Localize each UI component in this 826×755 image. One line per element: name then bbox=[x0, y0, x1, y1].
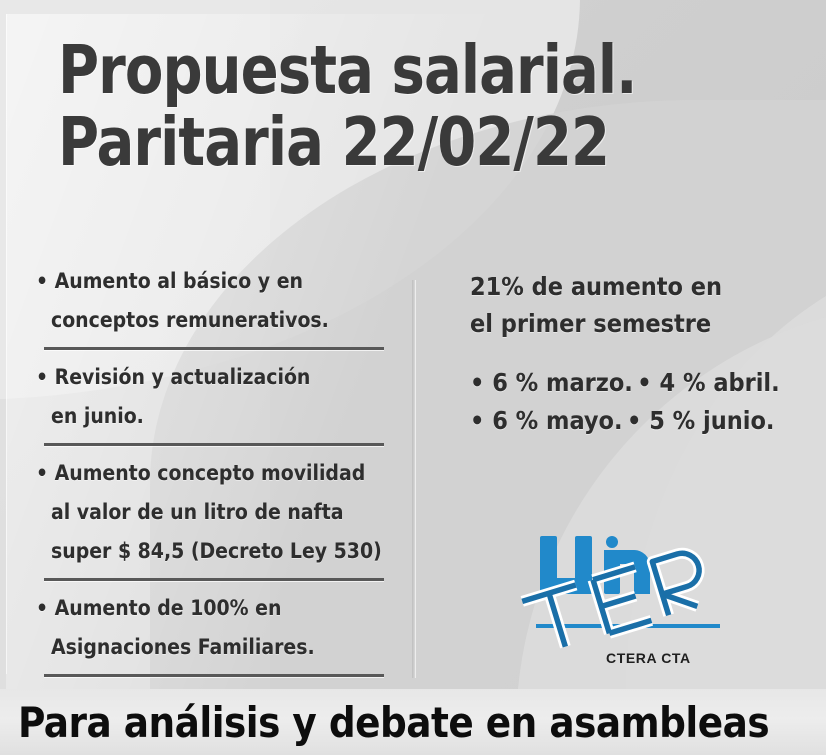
list-item: • 6 % mayo. bbox=[470, 406, 623, 435]
list-item: • Revisión y actualización en junio. bbox=[36, 358, 392, 436]
left-column: • Aumento al básico y en conceptos remun… bbox=[36, 262, 392, 677]
list-separator bbox=[44, 347, 384, 350]
bullet-text: super $ 84,5 (Decreto Ley 530) bbox=[36, 532, 392, 571]
bullet-text: • Aumento de 100% en bbox=[36, 589, 392, 628]
list-separator bbox=[44, 443, 384, 446]
column-divider bbox=[412, 280, 415, 678]
unter-logo: CTERA CTA bbox=[520, 528, 740, 688]
bullet-text: al valor de un litro de nafta bbox=[36, 493, 392, 532]
logo-caption: CTERA CTA bbox=[606, 650, 746, 666]
bullet-text: Asignaciones Familiares. bbox=[36, 628, 392, 667]
bullet-text: • Revisión y actualización bbox=[36, 358, 392, 397]
list-item: • 4 % abril. bbox=[637, 368, 779, 397]
list-item: • Aumento concepto movilidad al valor de… bbox=[36, 454, 392, 571]
right-column: 21% de aumento en el primer semestre • 6… bbox=[470, 268, 800, 440]
list-separator bbox=[44, 674, 384, 677]
bullet-text: • Aumento al básico y en bbox=[36, 262, 392, 301]
right-column-heading: 21% de aumento en el primer semestre bbox=[470, 268, 800, 342]
footer-banner: Para análisis y debate en asambleas bbox=[0, 689, 826, 755]
poster-root: Propuesta salarial. Paritaria 22/02/22 •… bbox=[0, 0, 826, 755]
monthly-increase-list: • 6 % marzo. • 4 % abril. • 6 % mayo. • … bbox=[470, 364, 800, 440]
list-item: • Aumento de 100% en Asignaciones Famili… bbox=[36, 589, 392, 667]
right-heading-line-2: el primer semestre bbox=[470, 309, 711, 338]
right-heading-line-1: 21% de aumento en bbox=[470, 272, 722, 301]
page-title-line-1: Propuesta salarial. bbox=[58, 34, 746, 106]
bullet-text: en junio. bbox=[36, 397, 392, 436]
list-separator bbox=[44, 578, 384, 581]
list-item: • 6 % marzo. bbox=[470, 368, 633, 397]
list-item: • Aumento al básico y en conceptos remun… bbox=[36, 262, 392, 340]
bullet-text: conceptos remunerativos. bbox=[36, 301, 392, 340]
page-title: Propuesta salarial. Paritaria 22/02/22 bbox=[58, 34, 746, 179]
list-item: • 5 % junio. bbox=[627, 406, 774, 435]
footer-text: Para análisis y debate en asambleas bbox=[18, 695, 810, 751]
bullet-text: • Aumento concepto movilidad bbox=[36, 454, 392, 493]
page-title-line-2: Paritaria 22/02/22 bbox=[58, 106, 746, 178]
